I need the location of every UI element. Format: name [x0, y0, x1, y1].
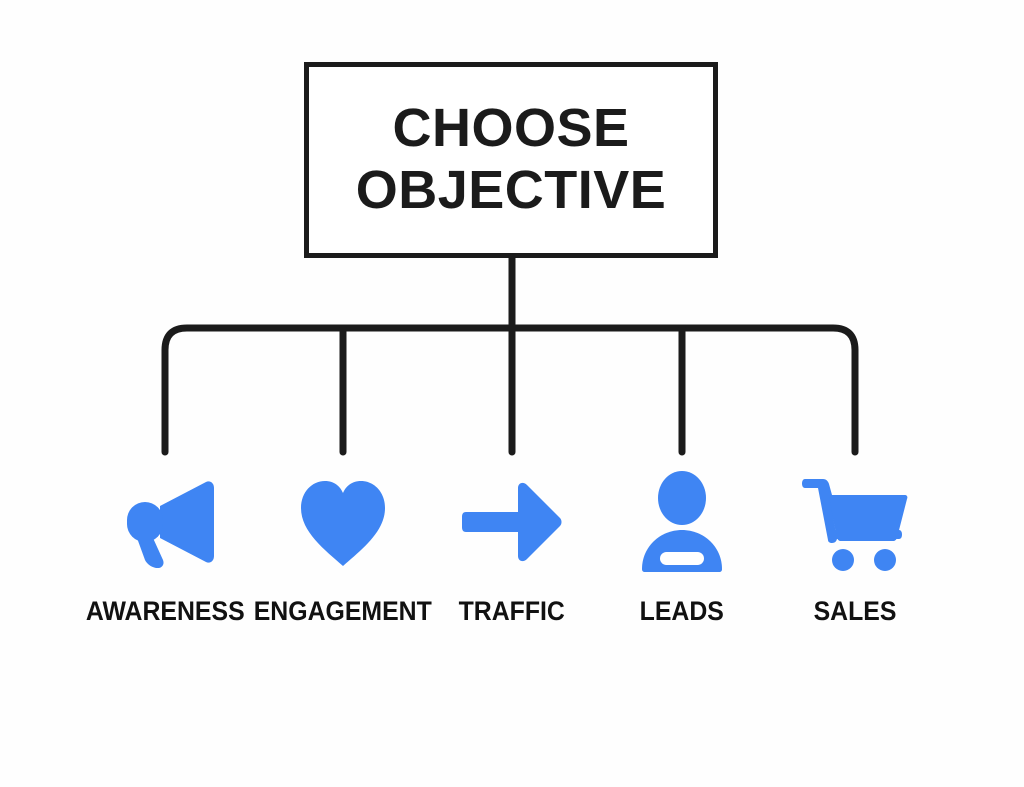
megaphone-icon	[113, 466, 217, 578]
diagram-canvas: CHOOSE OBJECTIVE AWARENESS	[0, 0, 1024, 787]
shopping-cart-icon	[801, 466, 909, 578]
branch-label-awareness: AWARENESS	[86, 596, 245, 627]
branch-label-engagement: ENGAGEMENT	[254, 596, 432, 627]
person-icon	[638, 466, 726, 578]
choose-objective-title-line1: CHOOSE	[392, 98, 629, 160]
branch-label-sales: SALES	[814, 596, 897, 627]
choose-objective-title-line2: OBJECTIVE	[356, 160, 667, 222]
branch-engagement[interactable]: ENGAGEMENT	[253, 466, 433, 636]
branch-label-traffic: TRAFFIC	[459, 596, 565, 627]
branch-leads[interactable]: LEADS	[592, 466, 772, 636]
branch-label-leads: LEADS	[640, 596, 724, 627]
arrow-right-icon	[460, 466, 564, 578]
branch-sales[interactable]: SALES	[765, 466, 945, 636]
branch-traffic[interactable]: TRAFFIC	[422, 466, 602, 636]
connector-bus	[165, 328, 855, 452]
branch-awareness[interactable]: AWARENESS	[75, 466, 255, 636]
choose-objective-box[interactable]: CHOOSE OBJECTIVE	[304, 62, 718, 258]
heart-icon	[295, 466, 391, 578]
